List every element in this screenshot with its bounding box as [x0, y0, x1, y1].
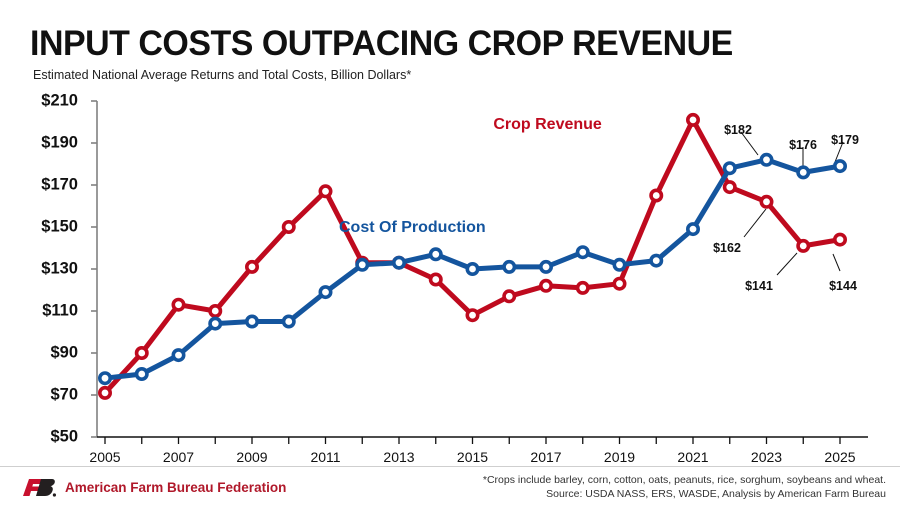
y-axis-tick-label: $110 — [18, 302, 78, 321]
x-axis-tick-label: 2023 — [737, 449, 797, 465]
label-leader-lines — [741, 132, 843, 275]
data-point-label: $144 — [829, 279, 857, 293]
y-axis-tick-label: $210 — [18, 92, 78, 111]
x-axis-tick-label: 2019 — [590, 449, 650, 465]
source-note: Source: USDA NASS, ERS, WASDE, Analysis … — [483, 487, 886, 501]
data-point-label: $182 — [724, 123, 752, 137]
footnotes: *Crops include barley, corn, cotton, oat… — [483, 473, 886, 501]
x-axis-tick-label: 2013 — [369, 449, 429, 465]
x-axis-tick-label: 2015 — [443, 449, 503, 465]
x-axis-tick-label: 2007 — [149, 449, 209, 465]
series-markers — [100, 115, 845, 398]
data-point-label: $141 — [745, 279, 773, 293]
footer-divider — [0, 466, 900, 467]
x-axis-tick-label: 2017 — [516, 449, 576, 465]
infographic-chart: INPUT COSTS OUTPACING CROP REVENUE Estim… — [0, 0, 900, 506]
series-lines — [105, 120, 840, 393]
y-axis-tick-label: $90 — [18, 344, 78, 363]
crops-note: *Crops include barley, corn, cotton, oat… — [483, 473, 886, 487]
series-label-crop-revenue: Crop Revenue — [493, 116, 601, 134]
y-axis-tick-label: $50 — [18, 428, 78, 447]
y-axis-tick-label: $190 — [18, 134, 78, 153]
data-point-label: $179 — [831, 133, 859, 147]
x-axis-tick-label: 2005 — [75, 449, 135, 465]
y-axis-tick-label: $150 — [18, 218, 78, 237]
axis-ticks — [91, 101, 840, 444]
brand-logo: American Farm Bureau Federation — [22, 478, 286, 497]
x-axis-tick-label: 2021 — [663, 449, 723, 465]
y-axis-tick-label: $70 — [18, 386, 78, 405]
x-axis-tick-label: 2011 — [296, 449, 356, 465]
chart-canvas — [0, 0, 900, 506]
data-point-label: $162 — [713, 241, 741, 255]
series-label-cost-of-production: Cost Of Production — [339, 219, 486, 237]
organization-name: American Farm Bureau Federation — [65, 480, 286, 495]
fb-logo-icon — [22, 478, 56, 497]
x-axis-tick-label: 2025 — [810, 449, 870, 465]
y-axis-tick-label: $130 — [18, 260, 78, 279]
x-axis-tick-label: 2009 — [222, 449, 282, 465]
data-point-label: $176 — [789, 138, 817, 152]
y-axis-tick-label: $170 — [18, 176, 78, 195]
